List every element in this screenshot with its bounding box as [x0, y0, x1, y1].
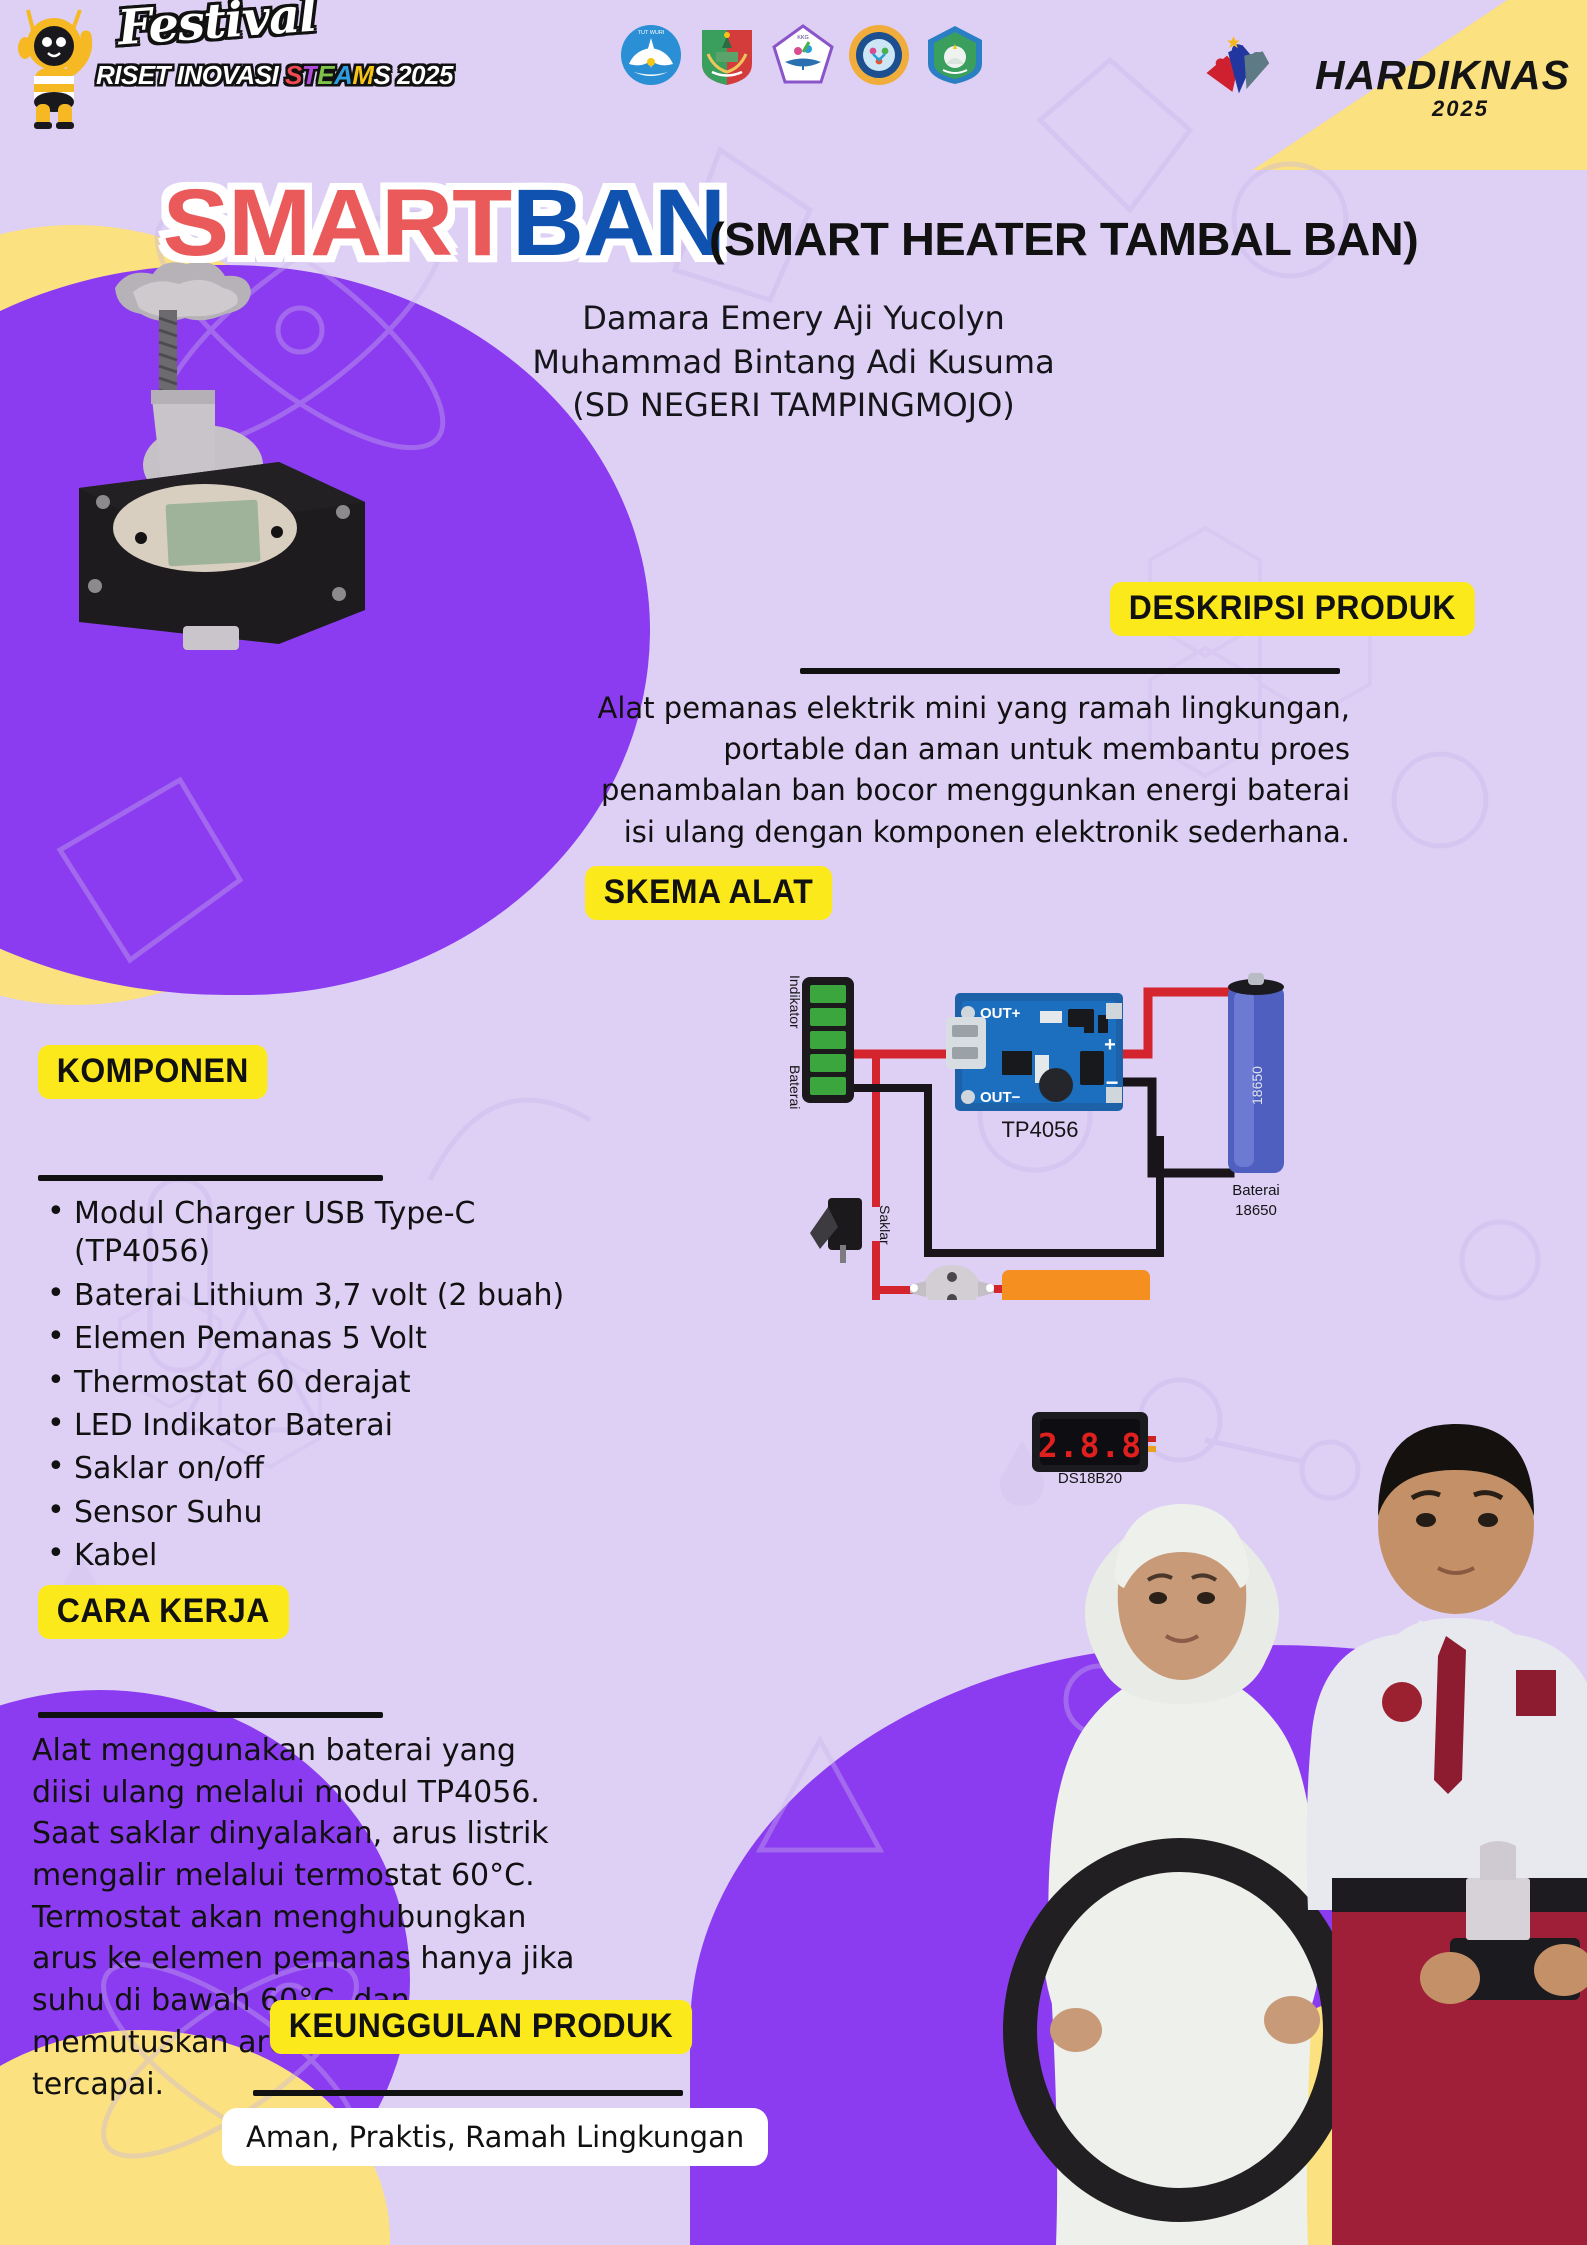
list-item: LED Indikator Baterai — [40, 1407, 600, 1445]
svg-text:Baterai: Baterai — [1232, 1182, 1280, 1199]
hardiknas-logo: HARDIKNAS 2025 — [1200, 8, 1570, 126]
festival-logo-text: Festival RISET INOVASI STEAMS 2025 — [96, 6, 396, 91]
hardiknas-label: HARDIKNAS — [1315, 52, 1570, 99]
kkg-tembelang-logo: KKG — [772, 24, 834, 86]
page-title: SMARTBAN — [162, 176, 724, 271]
deskripsi-section-header: DESKRIPSI PRODUK — [1110, 582, 1498, 636]
svg-text:+: + — [1104, 1034, 1116, 1056]
title-part-smart: SMART — [162, 170, 511, 276]
komponen-section-header: KOMPONEN — [38, 1045, 282, 1099]
keunggulan-body: Aman, Praktis, Ramah Lingkungan — [222, 2108, 768, 2166]
cara-kerja-rule — [38, 1712, 383, 1718]
svg-text:OUT−: OUT− — [980, 1089, 1021, 1106]
students-photo: SD — [880, 1330, 1587, 2245]
cara-kerja-section-header: CARA KERJA — [38, 1585, 305, 1639]
list-item: Kabel — [40, 1537, 600, 1575]
deskripsi-heading: DESKRIPSI PRODUK — [1110, 582, 1475, 636]
deskripsi-rule — [800, 668, 1340, 674]
festival-subtitle: RISET INOVASI STEAMS 2025 — [96, 60, 396, 91]
jawa-timur-province-logo — [696, 24, 758, 86]
school-name: (SD NEGERI TAMPINGMOJO) — [0, 384, 1587, 428]
poster-canvas: Festival RISET INOVASI STEAMS 2025 TUT W… — [0, 0, 1587, 2245]
svg-text:TP4056: TP4056 — [1001, 1117, 1078, 1142]
svg-text:TUT WURI: TUT WURI — [638, 30, 665, 36]
svg-text:Indikator: Indikator — [787, 975, 803, 1029]
poster-header: Festival RISET INOVASI STEAMS 2025 TUT W… — [0, 0, 1587, 130]
list-item: Thermostat 60 derajat — [40, 1364, 600, 1402]
skema-section-header: SKEMA ALAT — [585, 866, 848, 920]
hardiknas-year: 2025 — [1432, 96, 1489, 122]
keunggulan-heading: KEUNGGULAN PRODUK — [270, 2000, 692, 2054]
list-item: Elemen Pemanas 5 Volt — [40, 1320, 600, 1358]
komponen-list: Modul Charger USB Type-C (TP4056) Batera… — [40, 1195, 600, 1581]
komponen-rule — [38, 1175, 383, 1181]
smp-negeri-logo — [924, 24, 986, 86]
list-item: Baterai Lithium 3,7 volt (2 buah) — [40, 1277, 600, 1315]
festival-script-label: Festival — [94, 0, 397, 54]
svg-text:−: − — [1106, 1070, 1119, 1095]
svg-text:KKG: KKG — [797, 35, 809, 41]
komponen-heading: KOMPONEN — [38, 1045, 268, 1099]
circuit-schematic: Indikator Baterai OUT+ OUT− + − TP4056 1… — [740, 955, 1300, 1300]
list-item: Sensor Suhu — [40, 1494, 600, 1532]
tut-wuri-handayani-logo: TUT WURI — [620, 24, 682, 86]
svg-text:18650: 18650 — [1235, 1202, 1277, 1219]
mascot-robot-icon — [12, 4, 98, 129]
deskripsi-body: Alat pemanas elektrik mini yang ramah li… — [590, 688, 1350, 853]
svg-text:Saklar: Saklar — [877, 1205, 893, 1245]
cara-kerja-heading: CARA KERJA — [38, 1585, 289, 1639]
skema-heading: SKEMA ALAT — [585, 866, 832, 920]
list-item: Saklar on/off — [40, 1450, 600, 1488]
title-block: SMARTBAN (SMART HEATER TAMBAL BAN) Damar… — [0, 176, 1587, 428]
page-subtitle: (SMART HEATER TAMBAL BAN) — [709, 212, 1418, 266]
kkg-jombang-logo — [848, 24, 910, 86]
title-part-ban: BAN — [511, 170, 724, 276]
svg-text:Baterai: Baterai — [787, 1065, 803, 1109]
svg-text:OUT+: OUT+ — [980, 1005, 1021, 1022]
author-name-2: Muhammad Bintang Adi Kusuma — [0, 341, 1587, 385]
institution-logos: TUT WURI KKG — [620, 24, 986, 86]
list-item: Modul Charger USB Type-C (TP4056) — [40, 1195, 600, 1272]
keunggulan-rule — [253, 2090, 683, 2096]
keunggulan-section-header: KEUNGGULAN PRODUK — [270, 2000, 719, 2054]
author-list: Damara Emery Aji Yucolyn Muhammad Bintan… — [0, 297, 1587, 428]
svg-text:18650: 18650 — [1249, 1066, 1265, 1105]
author-name-1: Damara Emery Aji Yucolyn — [0, 297, 1587, 341]
